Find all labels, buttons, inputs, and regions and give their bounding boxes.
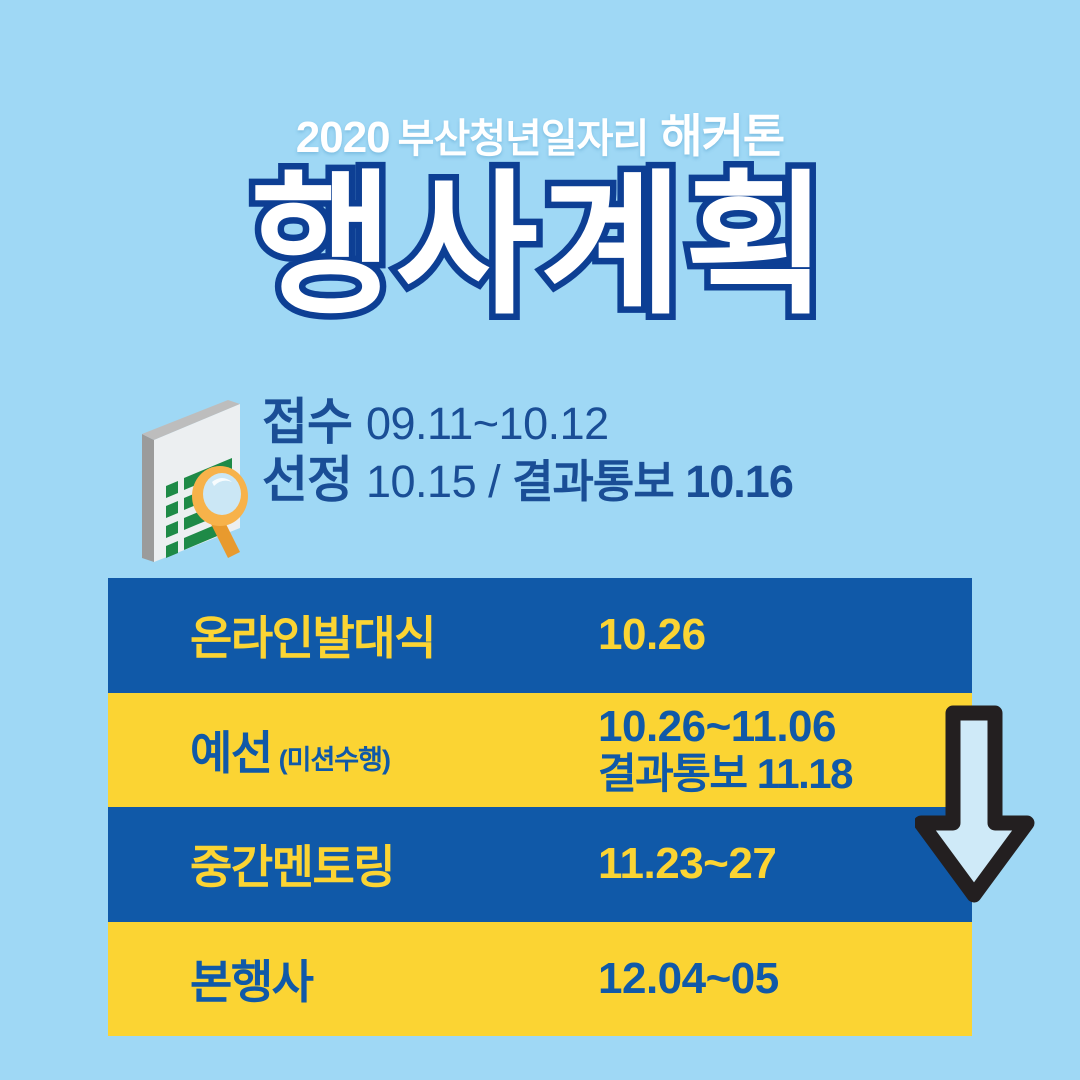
info-label-selection: 선정 <box>262 452 352 508</box>
schedule-value-line1: 10.26~11.06 <box>598 703 852 751</box>
arrow-down-icon <box>915 705 1035 905</box>
schedule-value-line1: 10.26 <box>598 611 706 659</box>
schedule-value-line2-prefix: 결과통보 <box>598 750 747 797</box>
schedule-label-cell: 온라인발대식 <box>190 602 435 668</box>
info-value-selection-notice-label: 결과통보 <box>512 456 674 507</box>
schedule-value-line1: 12.04~05 <box>598 955 779 1003</box>
schedule-label-cell: 예선(미션수행) <box>190 717 390 783</box>
subtitle-strong: 해커톤 <box>648 110 784 162</box>
application-info-lines: 접수09.11~10.12 선정10.15 / 결과통보 10.16 <box>262 394 962 510</box>
schedule-value-line2: 결과통보 11.18 <box>598 751 852 796</box>
schedule-label-cell: 본행사 <box>190 946 312 1012</box>
event-plan-poster: 2020부산청년일자리해커톤 행사계획 <box>0 0 1080 1080</box>
schedule-value-line2-date: 11.18 <box>747 750 852 797</box>
subtitle-year: 2020 <box>296 113 390 162</box>
info-label-receipt: 접수 <box>262 394 352 450</box>
subtitle-middle: 부산청년일자리 <box>390 117 649 161</box>
application-info-block: 접수09.11~10.12 선정10.15 / 결과통보 10.16 <box>132 388 962 563</box>
table-row: 온라인발대식 10.26 <box>108 578 972 693</box>
schedule-label-main: 온라인발대식 <box>190 602 435 668</box>
schedule-value-cell: 10.26 <box>598 611 706 659</box>
info-row-receipt: 접수09.11~10.12 <box>262 394 962 450</box>
poster-subtitle: 2020부산청년일자리해커톤 <box>0 113 1080 160</box>
table-row: 본행사 12.04~05 <box>108 922 972 1037</box>
info-value-receipt: 09.11~10.12 <box>352 398 609 449</box>
schedule-label-main: 본행사 <box>190 946 312 1012</box>
schedule-table: 온라인발대식 10.26 예선(미션수행) 10.26~11.06 결과통보 1… <box>108 578 972 1036</box>
page-title: 행사계획 <box>0 168 1080 323</box>
info-row-selection: 선정10.15 / 결과통보 10.16 <box>262 452 962 508</box>
schedule-label-main: 중간멘토링 <box>190 831 394 897</box>
schedule-label-cell: 중간멘토링 <box>190 831 394 897</box>
table-row: 예선(미션수행) 10.26~11.06 결과통보 11.18 <box>108 693 972 808</box>
schedule-label-main: 예선 <box>190 717 272 783</box>
table-row: 중간멘토링 11.23~27 <box>108 807 972 922</box>
info-value-selection-notice-date: 10.16 <box>674 456 793 507</box>
info-value-selection-date: 10.15 / <box>352 456 512 507</box>
schedule-label-sub: (미션수행) <box>272 738 390 777</box>
schedule-value-cell: 10.26~11.06 결과통보 11.18 <box>598 703 852 796</box>
schedule-value-cell: 12.04~05 <box>598 955 779 1003</box>
schedule-value-cell: 11.23~27 <box>598 840 776 888</box>
schedule-value-line1: 11.23~27 <box>598 840 776 888</box>
document-magnifier-icon <box>132 390 260 562</box>
